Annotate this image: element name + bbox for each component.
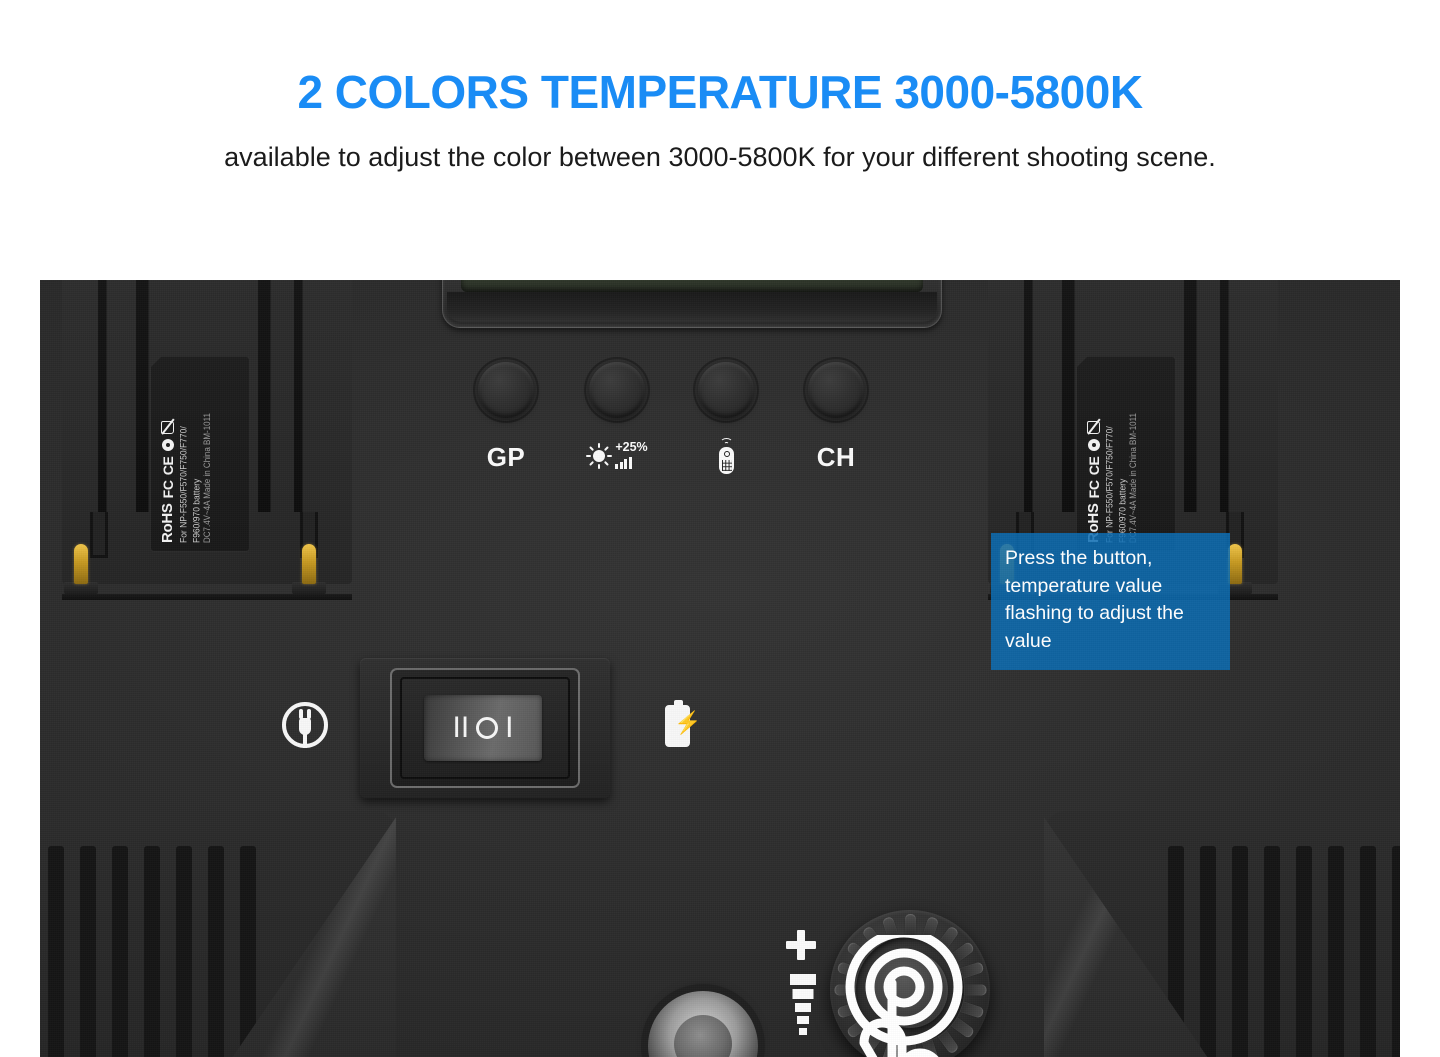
- switch-mark-ii: II: [452, 713, 469, 743]
- button-brightness-knob[interactable]: [589, 362, 645, 418]
- plate-rail: [1062, 280, 1075, 512]
- heatsink-right: [1044, 811, 1400, 1057]
- dimmer-scale: [782, 930, 824, 1057]
- battery-compat-line-1: For NP-F550/F570/F750/F770/: [177, 363, 189, 543]
- button-ch[interactable]: CH: [790, 362, 882, 474]
- button-brightness[interactable]: +25%: [571, 362, 663, 474]
- button-gp-knob[interactable]: [478, 362, 534, 418]
- mount-socket-core: [674, 1015, 732, 1057]
- remote-control-icon: [715, 436, 737, 474]
- plate-rail: [258, 280, 271, 512]
- button-ch-label: CH: [790, 440, 882, 474]
- power-switch[interactable]: II I: [360, 658, 610, 798]
- battery-charge-icon: ⚡: [665, 705, 690, 747]
- header: 2 COLORS TEMPERATURE 3000-5800K availabl…: [0, 0, 1440, 177]
- lcd-bezel: [447, 292, 937, 322]
- plate-rail: [1184, 280, 1197, 512]
- battery-rating-line: DC7.4V~4A Made in China BM-1011: [203, 363, 214, 543]
- brightness-percent-label: +25%: [615, 441, 647, 454]
- contact-pin: [1228, 544, 1242, 584]
- ce-icon: CE: [1086, 456, 1102, 475]
- power-switch-inner: II I: [400, 677, 570, 779]
- switch-mark-i: I: [505, 713, 513, 743]
- mount-socket: [648, 991, 758, 1057]
- heatsink-left: [40, 811, 396, 1057]
- button-ch-knob[interactable]: [808, 362, 864, 418]
- battery-compat-line-1: For NP-F550/F570/F750/F770/: [1103, 363, 1115, 543]
- ce-icon: CE: [160, 456, 176, 475]
- power-plug-icon: [282, 702, 328, 748]
- plate-rail: [136, 280, 149, 512]
- callout-tooltip: Press the button, temperature value flas…: [991, 533, 1230, 670]
- switch-mark-o: [476, 717, 498, 739]
- power-switch-ring: II I: [390, 668, 580, 788]
- power-switch-rocker[interactable]: II I: [424, 695, 542, 761]
- tap-hand-icon: [840, 935, 1030, 1057]
- lcd-glass: [461, 280, 923, 292]
- battery-compat-line-2: F960/970 battery: [190, 363, 202, 543]
- plate-notch: [90, 512, 108, 558]
- plate-foot: [62, 594, 352, 600]
- wee-crossed-bin-icon: [1087, 421, 1100, 434]
- page-title: 2 COLORS TEMPERATURE 3000-5800K: [0, 68, 1440, 116]
- recycle-icon: [162, 439, 174, 451]
- lcd-display: [442, 280, 942, 328]
- brightness-sun-icon: +25%: [586, 441, 647, 469]
- lightning-bolt-glyph: ⚡: [674, 712, 701, 734]
- signal-bars-icon: [615, 456, 632, 469]
- button-remote-knob[interactable]: [698, 362, 754, 418]
- contact-pin: [74, 544, 88, 584]
- power-switch-area: II I ⚡: [278, 650, 708, 810]
- sun-glyph: [586, 443, 612, 469]
- battery-spec-label: RoHS FC CE For NP-F550/F570/F750/F770/ F…: [1076, 356, 1176, 552]
- button-gp-label: GP: [460, 440, 552, 474]
- plate-rail: [294, 280, 303, 512]
- rohs-text: RoHS: [159, 503, 176, 543]
- plus-icon: [786, 930, 816, 960]
- product-photo: RoHS FC CE For NP-F550/F570/F750/F770/ F…: [40, 280, 1400, 1057]
- contact-pin: [302, 544, 316, 584]
- wee-crossed-bin-icon: [161, 421, 174, 434]
- recycle-icon: [1088, 439, 1100, 451]
- battery-plate-left: RoHS FC CE For NP-F550/F570/F750/F770/ F…: [62, 280, 352, 584]
- battery-compat-line-2: F960/970 battery: [1116, 363, 1128, 543]
- plate-rail: [1220, 280, 1229, 512]
- certification-marks: RoHS FC CE: [159, 363, 176, 543]
- plate-rail: [98, 280, 107, 512]
- button-gp[interactable]: GP: [460, 362, 552, 474]
- fcc-icon: FC: [160, 480, 176, 498]
- certification-marks: RoHS FC CE: [1085, 363, 1102, 543]
- fcc-icon: FC: [1086, 480, 1102, 498]
- page-subtitle: available to adjust the color between 30…: [170, 138, 1270, 177]
- plate-rail: [1024, 280, 1033, 512]
- control-button-row: GP +25%: [460, 362, 930, 487]
- battery-spec-label: RoHS FC CE For NP-F550/F570/F750/F770/ F…: [150, 356, 250, 552]
- button-remote[interactable]: [680, 362, 772, 474]
- battery-rating-line: DC7.4V~4A Made in China BM-1011: [1129, 363, 1140, 543]
